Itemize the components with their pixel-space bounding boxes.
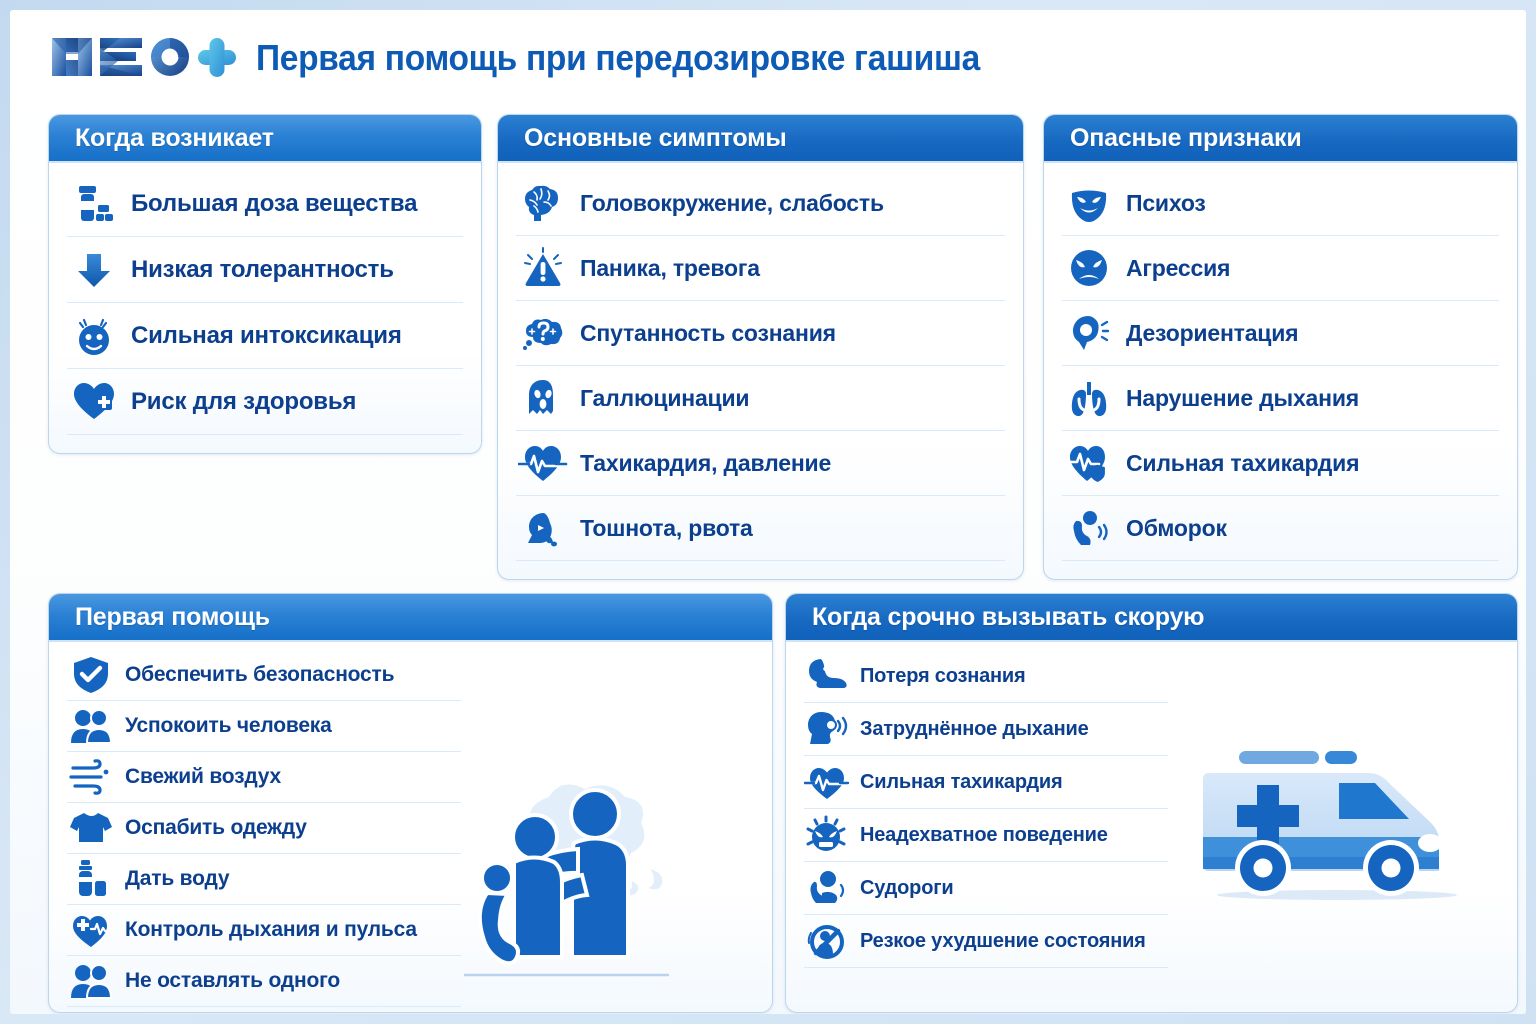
list-item-label: Потеря сознания (860, 665, 1025, 688)
thought-question-icon (516, 306, 570, 360)
list-item-label: Обеспечить безопасность (125, 663, 394, 687)
list-item-label: Затруднённое дыхание (860, 718, 1089, 741)
card-when-occurs-body: Большая доза вещества Низкая толерантнос… (49, 163, 481, 445)
infographic-frame: Первая помощь при передозировке гашиша К… (0, 0, 1536, 1024)
seizure-person-icon (804, 866, 850, 910)
list-item-label: Контроль дыхания и пульса (125, 918, 417, 942)
list-item[interactable]: Оспабить одежду (67, 803, 461, 854)
shield-check-icon (67, 653, 115, 697)
list-item[interactable]: Потеря сознания (804, 650, 1168, 703)
list-item-label: Нарушение дыхания (1126, 385, 1359, 412)
card-when-occurs: Когда возникает Большая доза вещества (48, 114, 482, 454)
card-call-ambulance-title: Когда срочно вызывать скорую (812, 603, 1204, 632)
list-item-label: Тахикардия, давление (580, 450, 831, 477)
list-item-label: Головокружение, слабость (580, 190, 884, 217)
list-item[interactable]: Спутанность сознания (516, 301, 1005, 366)
list-item[interactable]: Резкое ухудшение состояния (804, 915, 1168, 968)
heart-cross-icon (67, 375, 121, 429)
list-item[interactable]: Неадехватное поведение (804, 809, 1168, 862)
list-item[interactable]: Не оставлять одного (67, 956, 461, 1007)
list-item-label: Галлюцинации (580, 385, 749, 412)
list-item[interactable]: Успокоить человека (67, 701, 461, 752)
card-first-aid: Первая помощь (48, 593, 773, 1013)
neo-plus-logo (48, 30, 238, 86)
ghost-icon (516, 371, 570, 425)
vomiting-head-icon (516, 501, 570, 555)
card-call-ambulance-body: Потеря сознания Затруднённое дыхание (786, 642, 1186, 978)
list-item-label: Дезориентация (1126, 320, 1298, 347)
heart-pulse-shield-icon (1062, 436, 1116, 490)
list-item[interactable]: Головокружение, слабость (516, 171, 1005, 236)
wind-icon (67, 755, 115, 799)
header: Первая помощь при передозировке гашиша (48, 22, 1034, 94)
list-item[interactable]: Дать воду (67, 854, 461, 905)
card-main-symptoms-title: Основные симптомы (524, 124, 787, 153)
card-danger-signs-header: Опасные признаки (1044, 115, 1517, 163)
list-item[interactable]: Психоз (1062, 171, 1499, 236)
ambulance-illustration (1187, 737, 1487, 912)
list-item-label: Сильная тахикардия (860, 771, 1062, 794)
list-item[interactable]: Нарушение дыхания (1062, 366, 1499, 431)
list-item[interactable]: Паника, тревога (516, 236, 1005, 301)
list-item-label: Большая доза вещества (131, 190, 417, 218)
list-item-label: Тошнота, рвота (580, 515, 753, 542)
water-bottle-icon (67, 857, 115, 901)
warning-triangle-icon (516, 241, 570, 295)
card-first-aid-header: Первая помощь (49, 594, 772, 642)
two-people-helping-illustration (454, 757, 754, 1002)
angry-face-icon (1062, 241, 1116, 295)
list-item[interactable]: Большая доза вещества (67, 171, 463, 237)
heart-pulse-icon (804, 760, 850, 804)
two-people-icon (67, 959, 115, 1003)
list-item-label: Оспабить одежду (125, 816, 307, 840)
list-item[interactable]: Низкая толерантность (67, 237, 463, 303)
heart-pulse-icon (516, 436, 570, 490)
list-item-label: Психоз (1126, 190, 1206, 217)
list-item[interactable]: Сильная интоксикация (67, 303, 463, 369)
list-item[interactable]: Свежий воздух (67, 752, 461, 803)
list-item-label: Сильная тахикардия (1126, 450, 1359, 477)
card-when-occurs-title: Когда возникает (75, 124, 274, 153)
list-item[interactable]: Судороги (804, 862, 1168, 915)
list-item[interactable]: Тахикардия, давление (516, 431, 1005, 496)
list-item-label: Риск для здоровья (131, 388, 356, 416)
list-item[interactable]: Агрессия (1062, 236, 1499, 301)
list-item[interactable]: Обморок (1062, 496, 1499, 561)
list-item-label: Паника, тревога (580, 255, 760, 282)
card-danger-signs-body: Психоз Агрессия (1044, 163, 1517, 571)
infographic-sheet: Первая помощь при передозировке гашиша К… (10, 10, 1526, 1014)
fainting-person-icon (1062, 501, 1116, 555)
list-item[interactable]: Сильная тахикардия (804, 756, 1168, 809)
page-title: Первая помощь при передозировке гашиша (256, 37, 980, 79)
card-first-aid-title: Первая помощь (75, 603, 270, 632)
card-call-ambulance-header: Когда срочно вызывать скорую (786, 594, 1517, 642)
tshirt-icon (67, 806, 115, 850)
list-item-label: Судороги (860, 877, 953, 900)
unconscious-head-icon (804, 654, 850, 698)
card-main-symptoms-body: Головокружение, слабость (498, 163, 1023, 571)
list-item-label: Обморок (1126, 515, 1227, 542)
list-item[interactable]: Затруднённое дыхание (804, 703, 1168, 756)
list-item-label: Агрессия (1126, 255, 1230, 282)
list-item[interactable]: Сильная тахикардия (1062, 431, 1499, 496)
list-item-label: Свежий воздух (125, 765, 281, 789)
card-danger-signs-title: Опасные признаки (1070, 124, 1302, 153)
two-people-icon (67, 704, 115, 748)
list-item[interactable]: Тошнота, рвота (516, 496, 1005, 561)
card-danger-signs: Опасные признаки Психоз (1043, 114, 1518, 580)
card-main-symptoms-header: Основные симптомы (498, 115, 1023, 163)
list-item-label: Дать воду (125, 867, 229, 891)
angry-sunburst-face-icon (804, 813, 850, 857)
list-item[interactable]: Дезориентация (1062, 301, 1499, 366)
evil-mask-icon (1062, 176, 1116, 230)
head-pin-icon (1062, 306, 1116, 360)
list-item[interactable]: Контроль дыхания и пульса (67, 905, 461, 956)
list-item-label: Неадехватное поведение (860, 824, 1108, 847)
list-item-label: Низкая толерантность (131, 256, 394, 284)
list-item-label: Не оставлять одного (125, 969, 340, 993)
down-arrow-icon (67, 243, 121, 297)
list-item-label: Успокоить человека (125, 714, 332, 738)
heart-cross-pulse-icon (67, 908, 115, 952)
dizzy-face-icon (67, 309, 121, 363)
list-item-label: Резкое ухудшение состояния (860, 930, 1146, 953)
list-item[interactable]: Галлюцинации (516, 366, 1005, 431)
pill-bottle-icon (67, 177, 121, 231)
card-main-symptoms: Основные симптомы (497, 114, 1024, 580)
list-item[interactable]: Обеспечить безопасность (67, 650, 461, 701)
lungs-icon (1062, 371, 1116, 425)
list-item[interactable]: Риск для здоровья (67, 369, 463, 435)
list-item-label: Сильная интоксикация (131, 322, 402, 350)
list-item-label: Спутанность сознания (580, 320, 836, 347)
card-when-occurs-header: Когда возникает (49, 115, 481, 163)
no-entry-person-icon (804, 919, 850, 963)
brain-icon (516, 176, 570, 230)
card-first-aid-body: Обеспечить безопасность Успокоить челове… (49, 642, 479, 1013)
breathing-head-icon (804, 707, 850, 751)
card-call-ambulance: Когда срочно вызывать скорую (785, 593, 1518, 1013)
